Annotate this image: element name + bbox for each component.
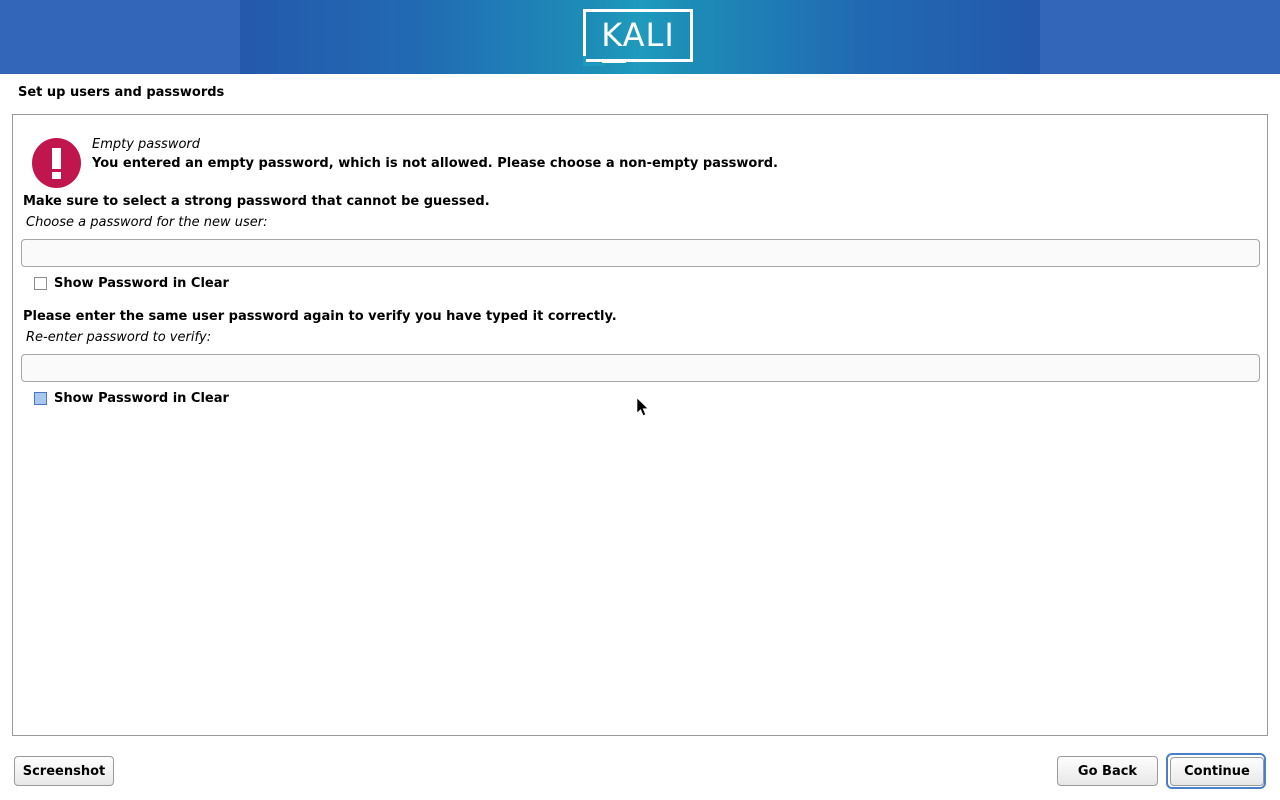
error-exclamation-icon — [32, 138, 81, 188]
installer-content-panel: Empty password You entered an empty pass… — [12, 114, 1268, 736]
verify-label: Re-enter password to verify: — [26, 330, 211, 345]
password-input[interactable] — [21, 239, 1260, 267]
page-title: Set up users and passwords — [18, 85, 224, 100]
show-password-checkbox-2[interactable] — [34, 392, 47, 405]
screenshot-button[interactable]: Screenshot — [14, 756, 114, 786]
exclamation-dot — [52, 172, 61, 179]
continue-button-focus-ring: Continue — [1166, 753, 1266, 789]
show-password-label-2: Show Password in Clear — [54, 391, 229, 406]
go-back-button[interactable]: Go Back — [1057, 756, 1158, 786]
error-message: You entered an empty password, which is … — [92, 156, 778, 171]
exclamation-bar — [52, 148, 61, 169]
continue-button[interactable]: Continue — [1170, 757, 1264, 786]
password-heading: Make sure to select a strong password th… — [23, 194, 490, 209]
logo-wordmark: KALI — [583, 9, 693, 62]
show-password-checkbox-1[interactable] — [34, 277, 47, 290]
show-password-label-1: Show Password in Clear — [54, 276, 229, 291]
error-title: Empty password — [92, 137, 200, 152]
verify-password-input[interactable] — [21, 354, 1260, 382]
verify-heading: Please enter the same user password agai… — [23, 309, 617, 324]
kali-banner: KALI — [0, 0, 1280, 74]
password-label: Choose a password for the new user: — [26, 215, 268, 230]
kali-logo: KALI — [583, 9, 697, 66]
